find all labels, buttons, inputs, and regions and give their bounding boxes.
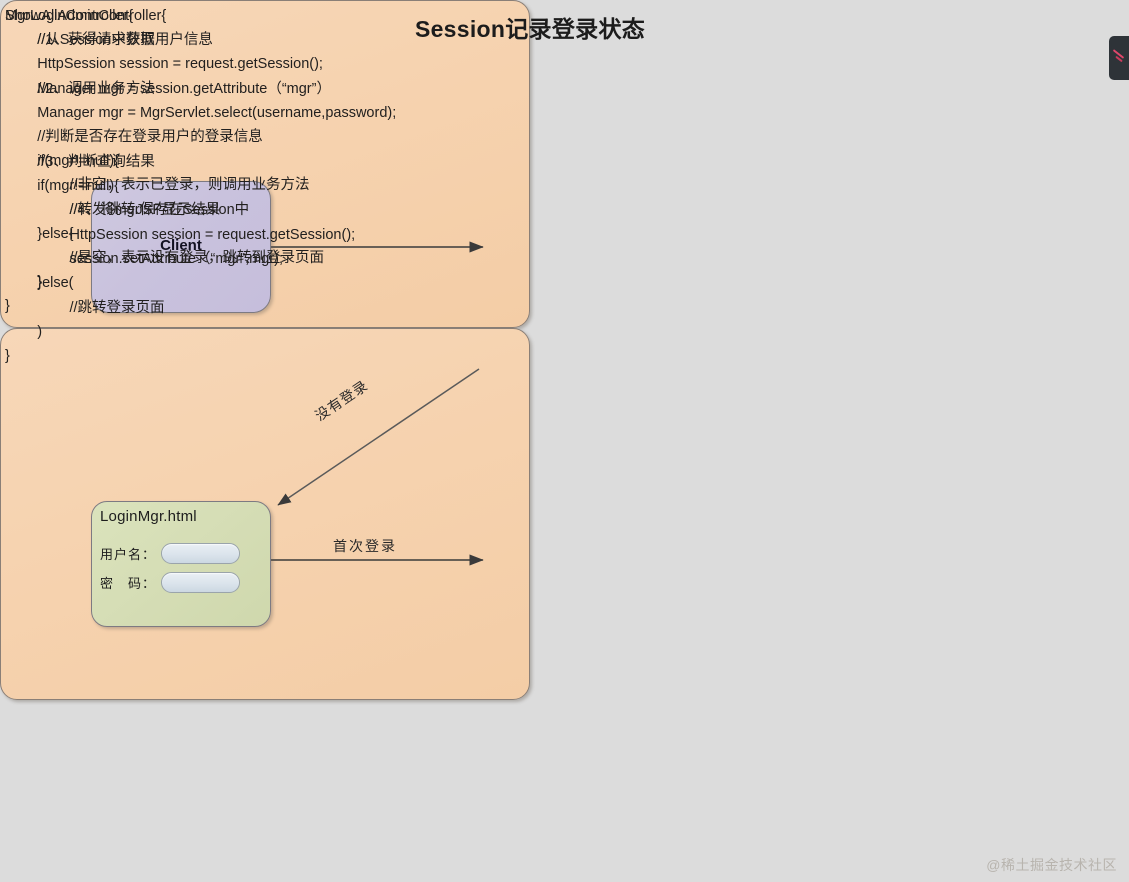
edit-pen-icon-tab[interactable] bbox=[1109, 36, 1129, 80]
code-line: //跳转登录页面 bbox=[5, 296, 1124, 320]
node-login-page[interactable]: LoginMgr.html 用户名： 密 码： bbox=[91, 501, 271, 627]
node-login-page-title: LoginMgr.html bbox=[100, 508, 197, 525]
watermark: @稀土掘金技术社区 bbox=[986, 855, 1117, 875]
code-line: //3、判断查询结果 bbox=[5, 150, 1124, 174]
code-line: //4、将mgr保存在Session中 bbox=[5, 198, 1124, 222]
code-line: //1、获得请求数据 bbox=[5, 28, 1124, 52]
username-label: 用户名： bbox=[100, 544, 156, 563]
code-line bbox=[5, 53, 1124, 77]
code-line: //2、调用业务方法 bbox=[5, 77, 1124, 101]
code-line: if(mgr!=null){ bbox=[5, 174, 1124, 198]
form-row-password: 密 码： bbox=[100, 572, 240, 593]
edge-label-first-login: 首次登录 bbox=[333, 536, 397, 556]
code-line: Manager mgr = MgrServlet.select(username… bbox=[5, 101, 1124, 125]
code-line: HttpSession session = request.getSession… bbox=[5, 223, 1124, 247]
code-line: } bbox=[5, 344, 1124, 368]
username-input[interactable] bbox=[161, 543, 240, 564]
code-line: ) bbox=[5, 320, 1124, 344]
form-row-username: 用户名： bbox=[100, 543, 240, 564]
password-label: 密 码： bbox=[100, 573, 156, 592]
code-line bbox=[5, 125, 1124, 149]
password-input[interactable] bbox=[161, 572, 240, 593]
code-line: }else( bbox=[5, 271, 1124, 295]
code-line: session.setAttribute（“mgr”,mgr); bbox=[5, 247, 1124, 271]
diagram-canvas: Session记录登录状态 没有登录 首次登录 Client LoginMgr.… bbox=[0, 0, 1129, 882]
code-lines-mgr-login-controller: MgrLoginController{ //1、获得请求数据 //2、调用业务方… bbox=[5, 4, 1124, 368]
code-line: MgrLoginController{ bbox=[5, 4, 1124, 28]
